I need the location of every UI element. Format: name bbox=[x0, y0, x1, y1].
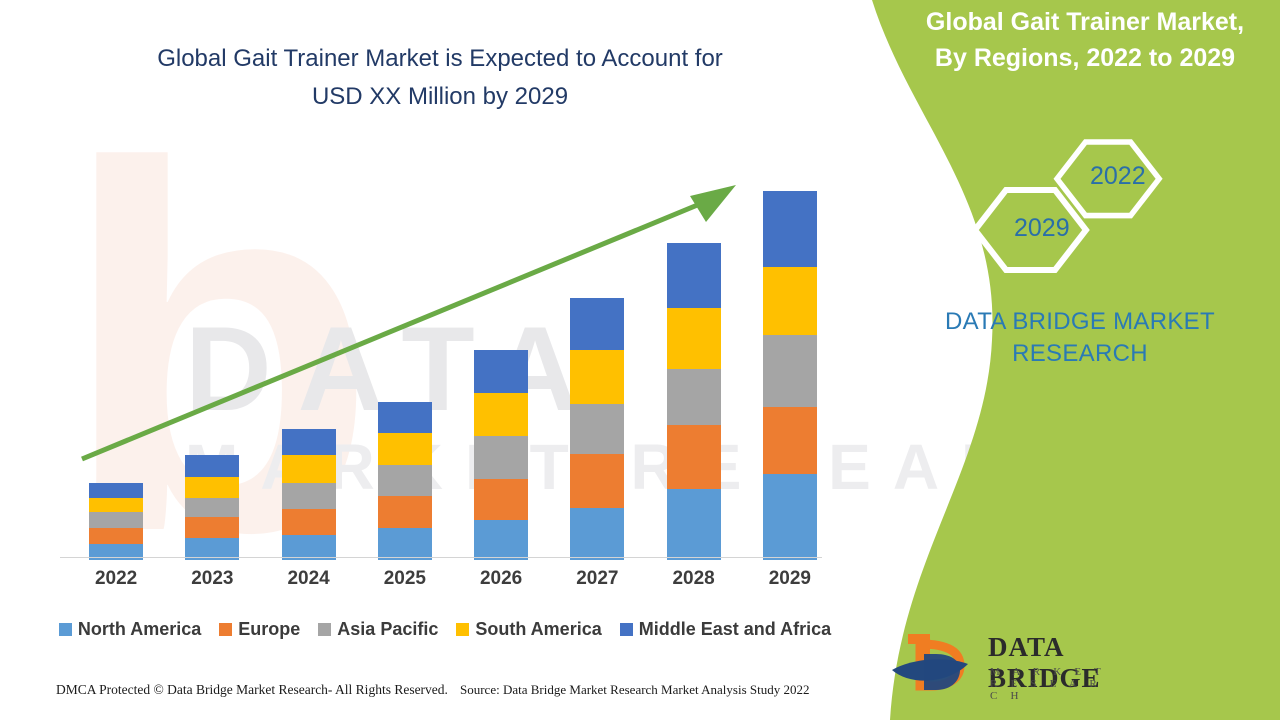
bar-segment bbox=[185, 477, 239, 498]
legend-label: Asia Pacific bbox=[337, 619, 438, 640]
x-axis-label-2023: 2023 bbox=[167, 568, 257, 590]
bar-segment bbox=[570, 508, 624, 560]
legend-item[interactable]: Asia Pacific bbox=[318, 619, 438, 640]
data-bridge-logo: DATA BRIDGE M A R K E T R E S E A R C H bbox=[890, 628, 1120, 696]
bar-column-2023 bbox=[185, 455, 239, 560]
legend-swatch-icon bbox=[59, 623, 72, 636]
bar-segment bbox=[89, 498, 143, 513]
bar-segment bbox=[667, 243, 721, 308]
bar-segment bbox=[282, 429, 336, 455]
panel-title-line-2: By Regions, 2022 to 2029 bbox=[900, 40, 1270, 76]
bar-segment bbox=[667, 425, 721, 489]
bar-segment bbox=[89, 512, 143, 528]
footer-copyright: DMCA Protected © Data Bridge Market Rese… bbox=[56, 682, 448, 698]
bar-segment bbox=[282, 483, 336, 510]
panel-brand-text: DATA BRIDGE MARKET RESEARCH bbox=[880, 306, 1280, 370]
x-axis-label-2029: 2029 bbox=[745, 568, 835, 590]
bar-segment bbox=[185, 498, 239, 518]
bar-column-2029 bbox=[763, 191, 817, 560]
bar-segment bbox=[282, 455, 336, 483]
bar-segment bbox=[378, 528, 432, 560]
bar-segment bbox=[474, 436, 528, 479]
panel-title: Global Gait Trainer Market, By Regions, … bbox=[900, 4, 1270, 76]
x-axis-labels: 20222023202420252026202720282029 bbox=[60, 568, 830, 598]
bar-segment bbox=[378, 433, 432, 465]
bar-column-2028 bbox=[667, 243, 721, 560]
x-axis-label-2026: 2026 bbox=[456, 568, 546, 590]
bar-segment bbox=[378, 496, 432, 529]
bar-segment bbox=[667, 308, 721, 370]
bar-segment bbox=[570, 298, 624, 350]
legend-item[interactable]: Middle East and Africa bbox=[620, 619, 831, 640]
footer-source: Source: Data Bridge Market Research Mark… bbox=[460, 682, 809, 698]
legend-swatch-icon bbox=[318, 623, 331, 636]
bar-segment bbox=[282, 509, 336, 535]
bar-segment bbox=[185, 455, 239, 477]
green-side-panel: Global Gait Trainer Market, By Regions, … bbox=[840, 0, 1280, 720]
legend-label: Europe bbox=[238, 619, 300, 640]
bar-segment bbox=[570, 404, 624, 454]
bar-segment bbox=[185, 517, 239, 538]
x-axis-label-2027: 2027 bbox=[552, 568, 642, 590]
hexagon-2029-label: 2029 bbox=[1014, 214, 1070, 243]
bar-column-2027 bbox=[570, 298, 624, 560]
bar-segment bbox=[763, 335, 817, 407]
bar-column-2025 bbox=[378, 402, 432, 560]
panel-title-line-1: Global Gait Trainer Market, bbox=[900, 4, 1270, 40]
bar-column-2026 bbox=[474, 350, 528, 560]
hexagon-2022-label: 2022 bbox=[1090, 162, 1146, 191]
x-axis-label-2022: 2022 bbox=[71, 568, 161, 590]
panel-brand-line-2: RESEARCH bbox=[880, 338, 1280, 370]
bar-segment bbox=[763, 191, 817, 267]
bar-segment bbox=[89, 528, 143, 544]
bar-segment bbox=[378, 465, 432, 496]
legend-swatch-icon bbox=[456, 623, 469, 636]
footer: DMCA Protected © Data Bridge Market Rese… bbox=[0, 682, 852, 706]
chart-title: Global Gait Trainer Market is Expected t… bbox=[90, 40, 790, 116]
chart-title-line-2: USD XX Million by 2029 bbox=[90, 78, 790, 116]
bar-segment bbox=[763, 267, 817, 334]
x-axis-label-2024: 2024 bbox=[264, 568, 354, 590]
chart-legend: North AmericaEuropeAsia PacificSouth Ame… bbox=[60, 616, 830, 642]
bar-segment bbox=[763, 474, 817, 560]
bar-segment bbox=[763, 407, 817, 473]
legend-item[interactable]: North America bbox=[59, 619, 201, 640]
bar-segment bbox=[474, 393, 528, 436]
bar-segment bbox=[667, 369, 721, 425]
x-axis-label-2025: 2025 bbox=[360, 568, 450, 590]
chart-title-line-1: Global Gait Trainer Market is Expected t… bbox=[90, 40, 790, 78]
bar-column-2024 bbox=[282, 429, 336, 560]
legend-label: South America bbox=[475, 619, 601, 640]
bar-segment bbox=[378, 402, 432, 433]
bar-segment bbox=[667, 489, 721, 560]
bar-segment bbox=[570, 454, 624, 509]
x-axis-line bbox=[60, 557, 822, 558]
bar-segment bbox=[570, 350, 624, 405]
legend-label: North America bbox=[78, 619, 201, 640]
logo-tagline: M A R K E T R E S E A R C H bbox=[990, 666, 1120, 702]
bar-segment bbox=[474, 479, 528, 521]
legend-swatch-icon bbox=[620, 623, 633, 636]
panel-brand-line-1: DATA BRIDGE MARKET bbox=[880, 306, 1280, 338]
legend-label: Middle East and Africa bbox=[639, 619, 831, 640]
legend-item[interactable]: South America bbox=[456, 619, 601, 640]
bar-segment bbox=[474, 350, 528, 394]
hexagon-group: 2029 2022 bbox=[840, 130, 1280, 290]
x-axis-label-2028: 2028 bbox=[649, 568, 739, 590]
bar-segment bbox=[89, 483, 143, 498]
bar-column-2022 bbox=[89, 483, 143, 560]
stacked-bar-plot bbox=[60, 160, 830, 560]
infographic-canvas: b DATA MARKET RESEARCH Global Gait Train… bbox=[0, 0, 1280, 720]
bar-segment bbox=[474, 520, 528, 560]
legend-swatch-icon bbox=[219, 623, 232, 636]
legend-item[interactable]: Europe bbox=[219, 619, 300, 640]
logo-mark-icon bbox=[890, 628, 982, 694]
hexagon-shapes bbox=[840, 130, 1280, 290]
